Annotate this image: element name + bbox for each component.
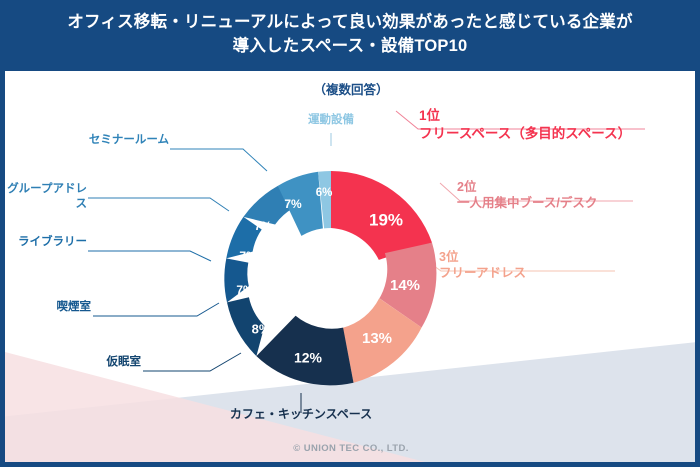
leader-line-group-address [88, 198, 229, 211]
leader-line-library [88, 251, 211, 261]
callout-nap-room: 仮眠室 [61, 355, 141, 370]
copyright-footer: © UNION TEC CO., LTD. [5, 443, 695, 454]
callout-rank1: 1位 フリースペース（多目的スペース） [419, 107, 631, 142]
callout-cafe-kitchen: カフェ・キッチンスペース [211, 407, 391, 423]
callout-gym: 運動設備 [269, 113, 393, 128]
callout-group-address: グループアドレス [5, 182, 87, 212]
callout-smoking-room: 喫煙室 [5, 300, 91, 315]
callout-seminar-room: セミナールーム [65, 133, 169, 148]
page-title: オフィス移転・リニューアルによって良い効果があったと感じている企業が 導入したス… [67, 11, 632, 59]
slice-value-smoking-room: 7% [236, 283, 254, 297]
leader-line-seminar [170, 149, 267, 171]
poster-header: オフィス移転・リニューアルによって良い効果があったと感じている企業が 導入したス… [0, 0, 700, 70]
slice-value-nap-room: 8% [252, 321, 271, 336]
leader-line-smoking [93, 303, 219, 316]
slice-value-free-address: 13% [362, 330, 392, 347]
infographic-poster: オフィス移転・リニューアルによって良い効果があったと感じている企業が 導入したス… [0, 0, 700, 467]
slice-value-seminar-room: 7% [284, 197, 302, 211]
leader-line-nap [143, 353, 241, 371]
chart-card: （複数回答） [4, 70, 696, 463]
callout-library: ライブラリー [5, 235, 87, 250]
slice-value-free-space: 19% [369, 210, 403, 229]
slice-value-focus-booth: 14% [390, 277, 420, 294]
slice-value-group-address: 7% [254, 219, 272, 233]
chart-card-inner: （複数回答） [5, 71, 695, 462]
slice-value-gym: 6% [316, 187, 333, 199]
callout-rank2: 2位 一人用集中ブース/デスク [457, 179, 597, 212]
slice-value-cafe-kitchen: 12% [294, 350, 323, 366]
callout-rank3: 3位 フリーアドレス [439, 249, 526, 282]
slice-value-library: 7% [239, 249, 257, 263]
